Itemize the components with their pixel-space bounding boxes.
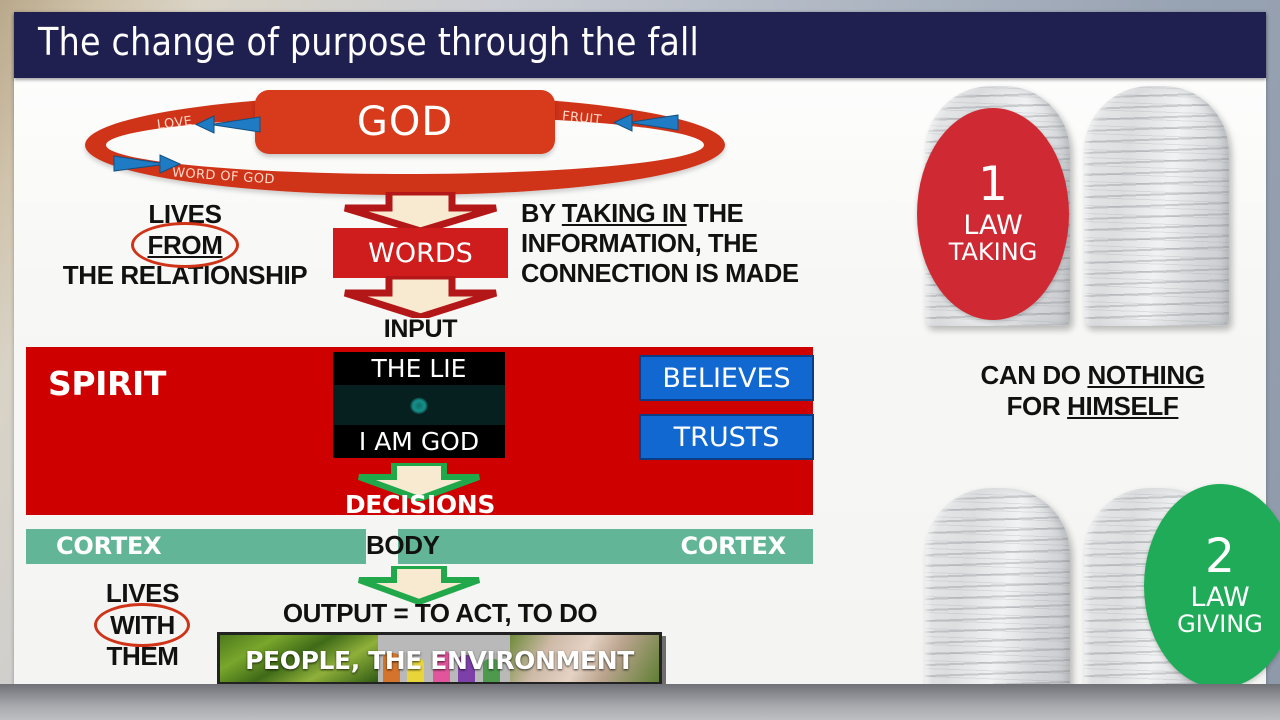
lower-line-2-circled: WITH [100,609,185,642]
taking-in-information-text: BY TAKING IN THE INFORMATION, THE CONNEC… [521,200,871,289]
right-text-line-2: FOR HIMSELF [905,391,1280,422]
lower-line-1: LIVES [60,578,225,609]
tablets-law-taking: 1 LAW TAKING [925,86,1229,326]
badge-one-word: LAW [963,212,1022,239]
right-text-line-1: CAN DO NOTHING [905,360,1280,391]
lives-with-them-text: LIVES WITH THEM [60,578,225,672]
arrow-down-to-words-icon [333,192,508,232]
slide-title-bar: The change of purpose through the fall [14,12,1266,78]
cortex-body-band: CORTEX CORTEX BODY [26,529,813,564]
i-am-god-label: I AM GOD [333,425,505,458]
arrow-left-love-icon [192,112,262,136]
stone-tablet-right [1084,86,1229,326]
left-line-2-circled: FROM [136,230,235,262]
slide-background: The change of purpose through the fall G… [0,0,1280,720]
people-environment-strip: PEOPLE, THE ENVIRONMENT [217,632,662,685]
arrow-left-fruit-icon [610,110,680,134]
badge-two-word: LAW [1190,584,1249,611]
lower-line-3: THEM [60,641,225,672]
people-environment-label: PEOPLE, THE ENVIRONMENT [220,646,659,675]
left-line-2-label: FROM [148,230,223,260]
left-line-3: THE RELATIONSHIP [40,261,330,291]
badge-law-two: 2 LAW GIVING [1144,484,1280,688]
body-label: BODY [366,530,398,561]
badge-two-mode: GIVING [1177,611,1263,637]
right-line1-pre: CAN DO [980,360,1087,390]
right-line2-pre: FOR [1007,391,1068,421]
left-line-1: LIVES [40,200,330,230]
trusts-box: TRUSTS [639,414,814,460]
badge-one-number: 1 [978,162,1008,208]
mid-right-underlined: TAKING IN [562,200,687,228]
decisions-label: DECISIONS [320,490,520,519]
god-label: GOD [357,99,453,145]
words-box: WORDS [333,228,508,278]
tablets-law-giving: 2 LAW GIVING [925,488,1229,693]
believes-label: BELIEVES [662,363,790,394]
right-line1-underlined: NOTHING [1087,360,1204,390]
cortex-label-right: CORTEX [681,532,787,560]
spirit-label: SPIRIT [48,364,166,403]
cortex-label-left: CORTEX [56,532,162,560]
trusts-label: TRUSTS [674,422,780,453]
bottom-gradient-band [0,684,1280,720]
words-label: WORDS [368,238,473,269]
stone-tablet-left-2 [925,488,1070,693]
cortex-segment-right: CORTEX [398,529,813,564]
the-lie-label: THE LIE [333,352,505,385]
output-label: OUTPUT = TO ACT, TO DO [230,598,650,629]
mid-right-pre: BY [521,200,562,228]
cortex-segment-left: CORTEX [26,529,366,564]
badge-law-one: 1 LAW TAKING [917,108,1069,320]
lower-line-2-label: WITH [110,610,175,640]
can-do-nothing-text: CAN DO NOTHING FOR HIMSELF [905,360,1280,422]
right-line2-underlined: HIMSELF [1067,391,1178,421]
god-box: GOD [255,90,555,154]
badge-one-mode: TAKING [949,239,1038,265]
page-title: The change of purpose through the fall [38,20,699,64]
lives-from-relationship-text: LIVES FROM THE RELATIONSHIP [40,200,330,291]
stone-tablet-right-2: 2 LAW GIVING [1084,488,1229,693]
lie-stack: THE LIE I AM GOD [333,352,505,458]
badge-two-number: 2 [1205,534,1235,580]
arrow-right-word-of-god-icon [112,150,184,176]
arrow-down-to-input-icon [333,276,508,318]
eye-image [333,385,505,425]
stone-tablet-left: 1 LAW TAKING [925,86,1070,326]
believes-box: BELIEVES [639,355,814,401]
input-label: INPUT [333,315,508,344]
